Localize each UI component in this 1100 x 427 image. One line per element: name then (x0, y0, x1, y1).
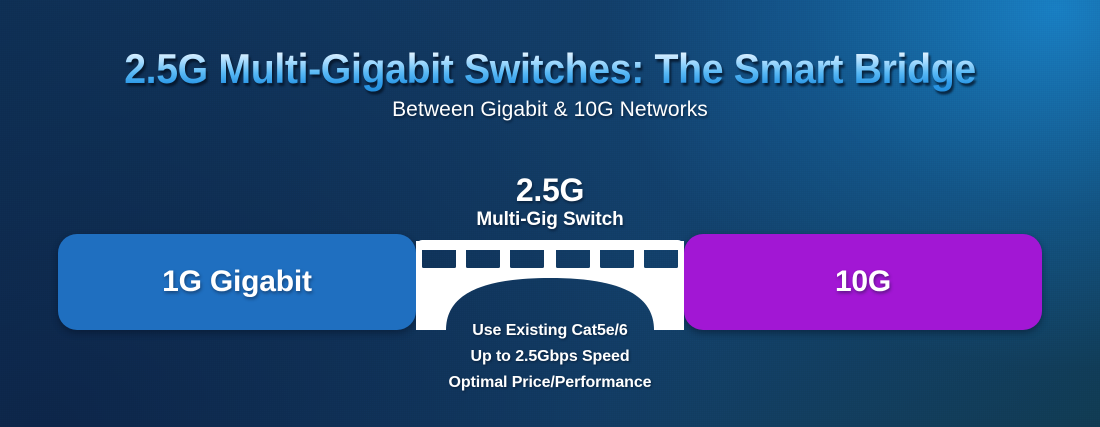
switch-device-label: Multi-Gig Switch (400, 208, 700, 232)
bridge-top-rail (417, 240, 683, 250)
endpoint-label-left: 1G Gigabit (162, 265, 312, 299)
switch-speed-label: 2.5G (400, 172, 700, 208)
endpoint-label-right: 10G (835, 265, 891, 299)
page-subtitle: Between Gigabit & 10G Networks (0, 98, 1100, 122)
feature-list: Use Existing Cat5e/6 Up to 2.5Gbps Speed… (375, 318, 725, 396)
bridge-svg (416, 234, 684, 330)
endpoint-box-right: 10G (684, 234, 1042, 330)
feature-item: Use Existing Cat5e/6 (375, 318, 725, 344)
switch-label-group: 2.5G Multi-Gig Switch (400, 172, 700, 232)
bridge-graphic (416, 234, 684, 330)
feature-item: Up to 2.5Gbps Speed (375, 344, 725, 370)
page-title: 2.5G Multi-Gigabit Switches: The Smart B… (36, 44, 1065, 94)
feature-item: Optimal Price/Performance (375, 370, 725, 396)
endpoint-box-left: 1G Gigabit (58, 234, 416, 330)
infographic-canvas: 2.5G Multi-Gigabit Switches: The Smart B… (0, 0, 1100, 427)
